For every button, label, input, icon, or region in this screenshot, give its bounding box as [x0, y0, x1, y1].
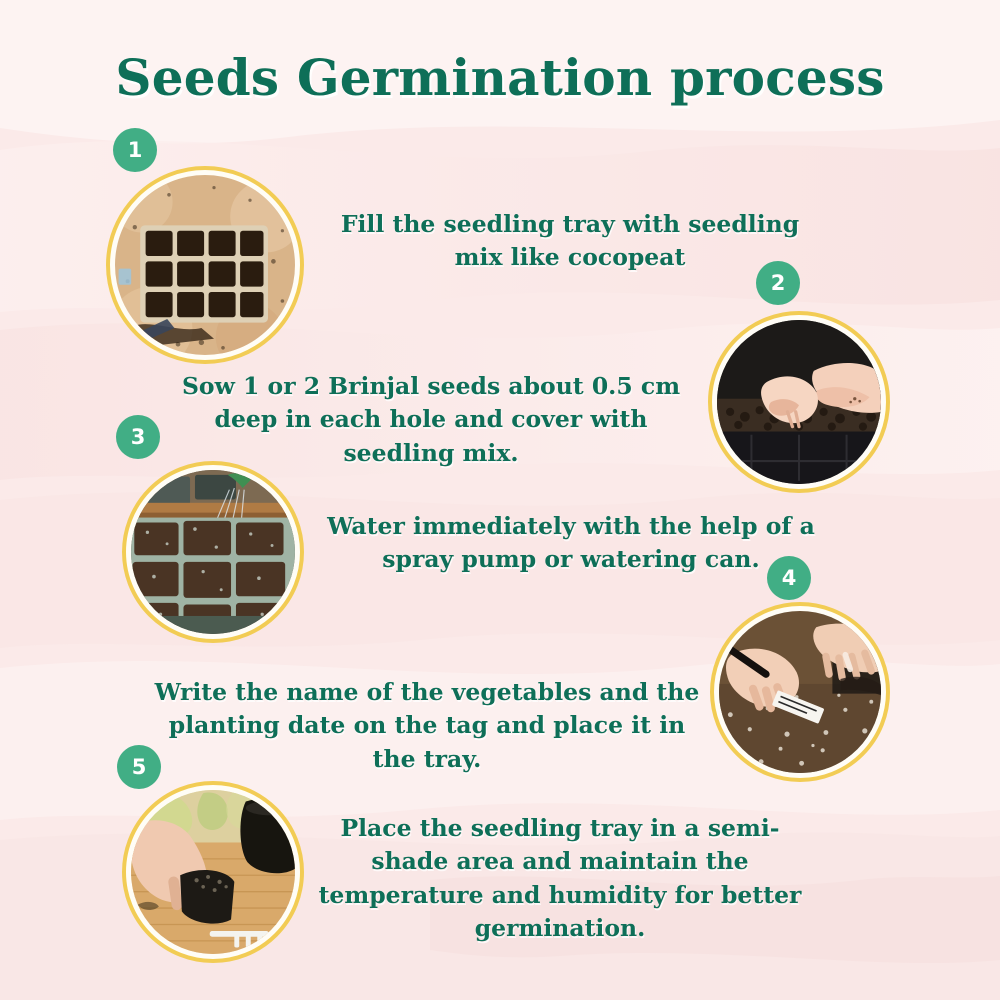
- page-title: Seeds Germination process: [0, 48, 1000, 107]
- writing-plant-tag-illustration: [719, 611, 881, 773]
- watering-spray-illustration: [131, 470, 295, 634]
- step-badge-4: 4: [767, 556, 811, 600]
- sowing-seeds-photo: [717, 320, 881, 484]
- placing-tray-photo: [131, 790, 295, 954]
- step-image-5[interactable]: [122, 781, 304, 963]
- step-image-2[interactable]: [708, 311, 890, 493]
- watering-spray-photo: [131, 470, 295, 634]
- step-number-5: 5: [132, 757, 147, 778]
- infographic-poster: Seeds Germination process 1: [0, 0, 1000, 1000]
- step-number-3: 3: [131, 427, 146, 448]
- step-caption-2: Sow 1 or 2 Brinjal seeds about 0.5 cm de…: [178, 370, 684, 470]
- step-image-4[interactable]: [710, 602, 890, 782]
- step-image-1[interactable]: [106, 166, 304, 364]
- step-caption-4: Write the name of the vegetables and the…: [146, 676, 708, 776]
- step-badge-5: 5: [117, 745, 161, 789]
- step-number-4: 4: [782, 568, 797, 589]
- seedling-tray-filled-photo: [115, 175, 295, 355]
- step-badge-2: 2: [756, 261, 800, 305]
- writing-plant-tag-photo: [719, 611, 881, 773]
- placing-tray-illustration: [131, 790, 295, 954]
- sowing-seeds-illustration: [717, 320, 881, 484]
- step-number-1: 1: [128, 140, 143, 161]
- step-caption-1: Fill the seedling tray with seedling mix…: [320, 208, 820, 275]
- step-badge-3: 3: [116, 415, 160, 459]
- step-badge-1: 1: [113, 128, 157, 172]
- seedling-tray-filled-illustration: [115, 175, 295, 355]
- step-number-2: 2: [771, 273, 786, 294]
- step-image-3[interactable]: [122, 461, 304, 643]
- step-caption-5: Place the seedling tray in a semi-shade …: [310, 812, 810, 945]
- step-caption-3: Water immediately with the help of a spr…: [304, 510, 838, 577]
